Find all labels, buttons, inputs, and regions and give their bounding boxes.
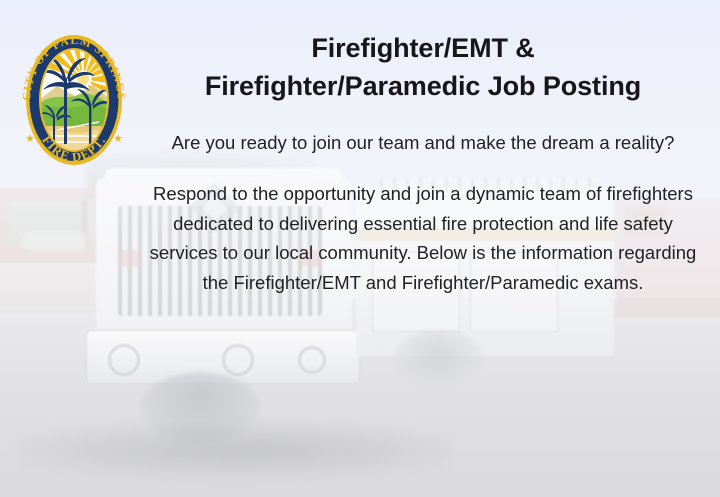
poster-content: Firefighter/EMT & Firefighter/Paramedic … <box>140 0 706 497</box>
seal-star-right-icon: ★ <box>113 133 123 145</box>
seal-star-left-icon: ★ <box>25 133 35 145</box>
page-title: Firefighter/EMT & Firefighter/Paramedic … <box>140 0 706 106</box>
title-line-2: Firefighter/Paramedic Job Posting <box>205 71 641 101</box>
details-paragraph: Respond to the opportunity and join a dy… <box>140 157 706 297</box>
job-posting-poster: CITY OF PALM SPRINGS FIRE DEPT. ★ ★ Fire… <box>0 0 720 497</box>
title-line-1: Firefighter/EMT & <box>311 33 534 63</box>
intro-paragraph: Are you ready to join our team and make … <box>140 106 706 158</box>
city-seal-logo: CITY OF PALM SPRINGS FIRE DEPT. ★ ★ <box>13 16 135 184</box>
